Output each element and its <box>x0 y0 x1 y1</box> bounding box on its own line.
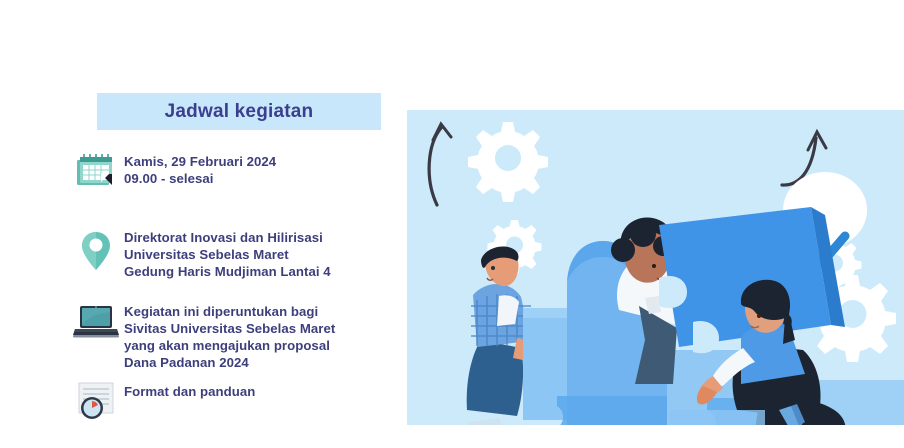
gear-icon-large <box>468 122 548 202</box>
document-icon <box>68 380 124 434</box>
list-item: Direktorat Inovasi dan Hilirisasi Univer… <box>68 226 408 280</box>
list-item: Format dan panduan <box>68 380 408 434</box>
schedule-location-text: Direktorat Inovasi dan Hilirisasi Univer… <box>124 226 331 280</box>
page-title: Jadwal kegiatan <box>165 101 314 123</box>
schedule-format-text: Format dan panduan <box>124 380 255 401</box>
teamwork-puzzle-illustration <box>407 110 904 425</box>
list-item: Kamis, 29 Februari 2024 09.00 - selesai <box>68 150 408 204</box>
schedule-list: Kamis, 29 Februari 2024 09.00 - selesai … <box>68 150 408 448</box>
laptop-icon <box>68 300 124 354</box>
schedule-audience-text: Kegiatan ini diperuntukan bagi Sivitas U… <box>124 300 335 371</box>
section-title-banner: Jadwal kegiatan <box>97 93 381 130</box>
schedule-panel: Jadwal kegiatan <box>0 0 400 425</box>
calendar-icon <box>68 150 124 204</box>
schedule-date-text: Kamis, 29 Februari 2024 09.00 - selesai <box>124 150 276 188</box>
slide-canvas: Jadwal kegiatan <box>0 0 904 425</box>
location-pin-icon <box>68 226 124 280</box>
list-item: Kegiatan ini diperuntukan bagi Sivitas U… <box>68 300 408 371</box>
